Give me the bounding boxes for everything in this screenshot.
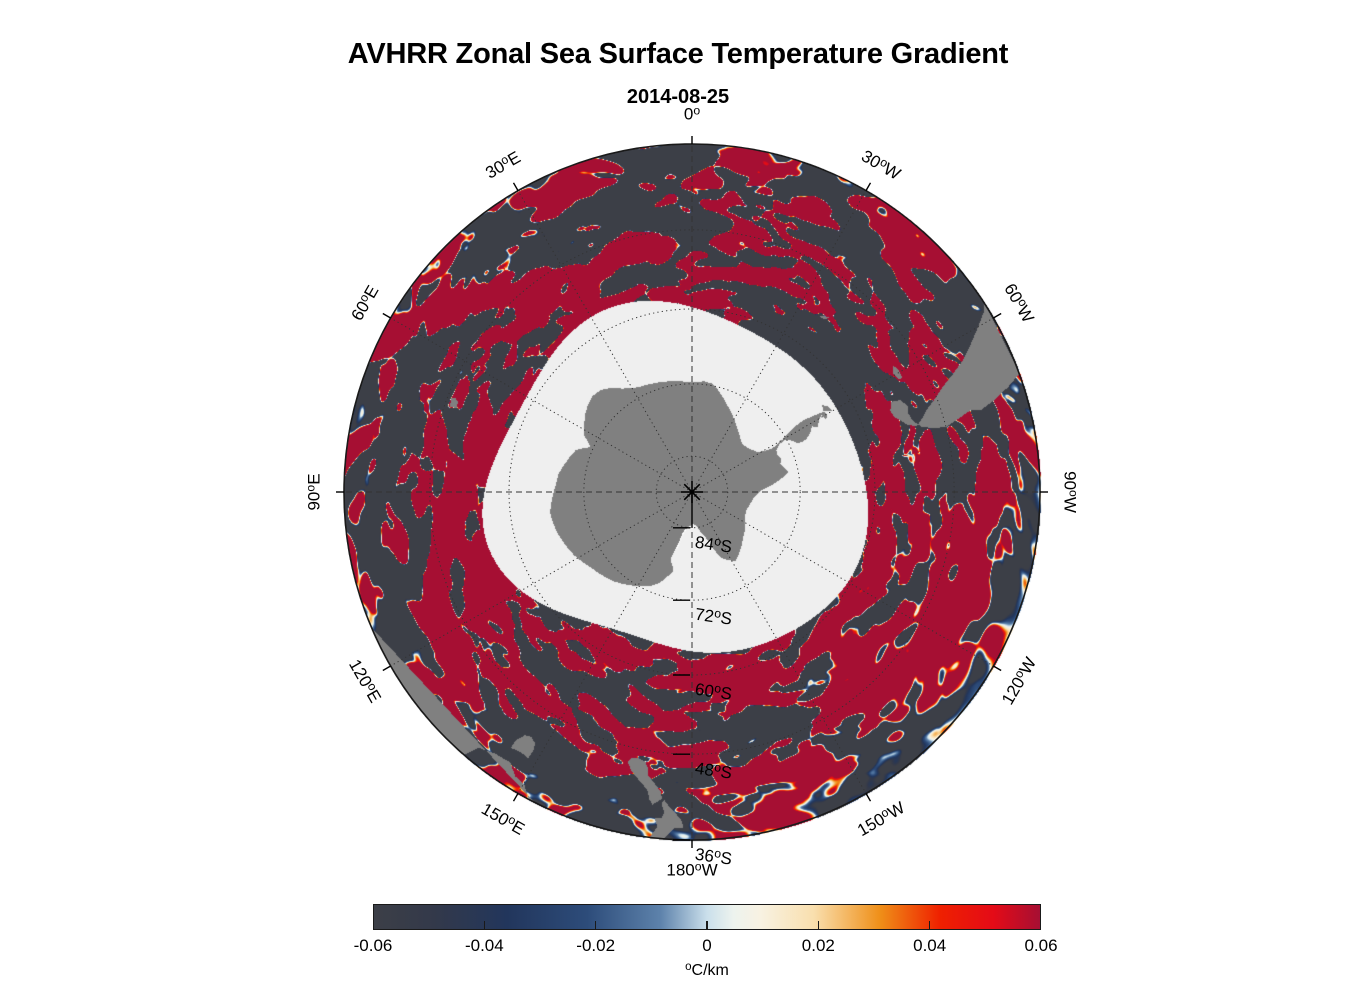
colorbar-unit-label: oC/km: [373, 961, 1041, 980]
colorbar-tick: [706, 921, 708, 930]
longitude-label-90W: 90oW: [1059, 471, 1080, 513]
figure-subtitle: 2014-08-25: [0, 86, 1356, 109]
colorbar-tick-label: 0.02: [773, 936, 863, 956]
page-title: AVHRR Zonal Sea Surface Temperature Grad…: [0, 38, 1356, 71]
longitude-label-90E: 90oE: [303, 473, 324, 510]
longitude-label-0N: 0o: [684, 103, 700, 124]
colorbar-tick-label: -0.06: [328, 936, 418, 956]
figure-root: AVHRR Zonal Sea Surface Temperature Grad…: [0, 0, 1356, 1000]
colorbar-tick-label: 0: [662, 936, 752, 956]
polar-map: 0o30oE60oE90oE120oE150oE180oW150oW120oW9…: [336, 136, 1048, 848]
colorbar-tick-label: 0.04: [885, 936, 975, 956]
colorbar: oC/km -0.06-0.04-0.0200.020.040.06: [373, 904, 1041, 930]
colorbar-tick-label: -0.02: [551, 936, 641, 956]
colorbar-tick: [818, 921, 820, 930]
colorbar-tick: [595, 921, 597, 930]
colorbar-tick-label: -0.04: [439, 936, 529, 956]
colorbar-tick: [929, 921, 931, 930]
sst-gradient-heatmap: [336, 136, 1048, 848]
colorbar-tick: [484, 921, 486, 930]
colorbar-tick-label: 0.06: [996, 936, 1086, 956]
